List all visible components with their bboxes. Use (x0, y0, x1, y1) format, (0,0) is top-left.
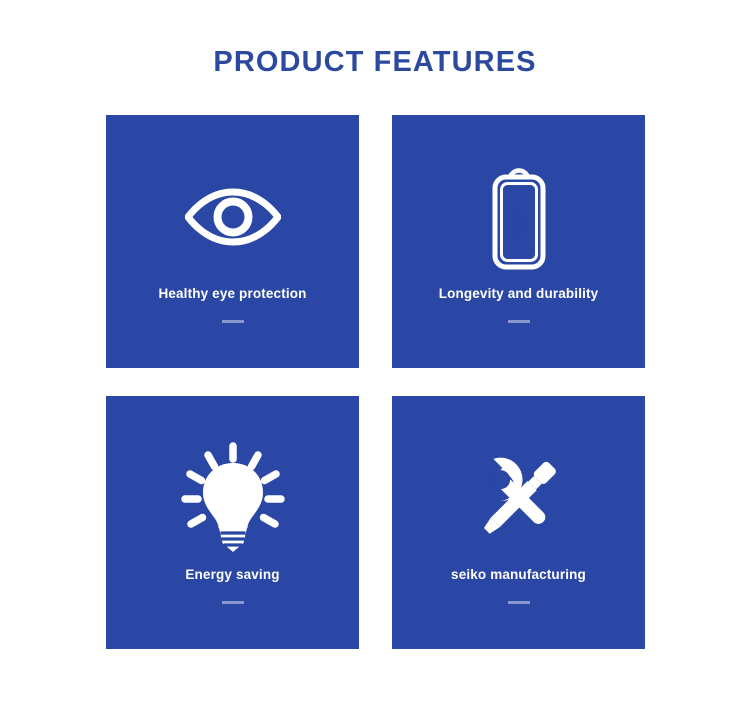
wrench-screwdriver-icon (392, 438, 645, 558)
feature-card-energy-saving[interactable]: Energy saving (106, 396, 359, 649)
card-divider (222, 320, 244, 323)
feature-label: Healthy eye protection (106, 285, 359, 303)
eye-icon (106, 157, 359, 277)
feature-card-longevity-and-durability[interactable]: Longevity and durability (392, 115, 645, 368)
feature-label: seiko manufacturing (392, 566, 645, 584)
card-divider (508, 601, 530, 604)
feature-card-healthy-eye-protection[interactable]: Healthy eye protection (106, 115, 359, 368)
battery-charge-icon (392, 157, 645, 277)
feature-label: Longevity and durability (392, 285, 645, 303)
feature-label: Energy saving (106, 566, 359, 584)
lightbulb-icon (106, 438, 359, 558)
card-divider (222, 601, 244, 604)
features-grid: Healthy eye protection Longevity and dur… (106, 115, 645, 649)
card-divider (508, 320, 530, 323)
product-features-page: PRODUCT FEATURES Healthy eye protection (0, 0, 750, 715)
feature-card-seiko-manufacturing[interactable]: seiko manufacturing (392, 396, 645, 649)
page-title: PRODUCT FEATURES (0, 44, 750, 80)
